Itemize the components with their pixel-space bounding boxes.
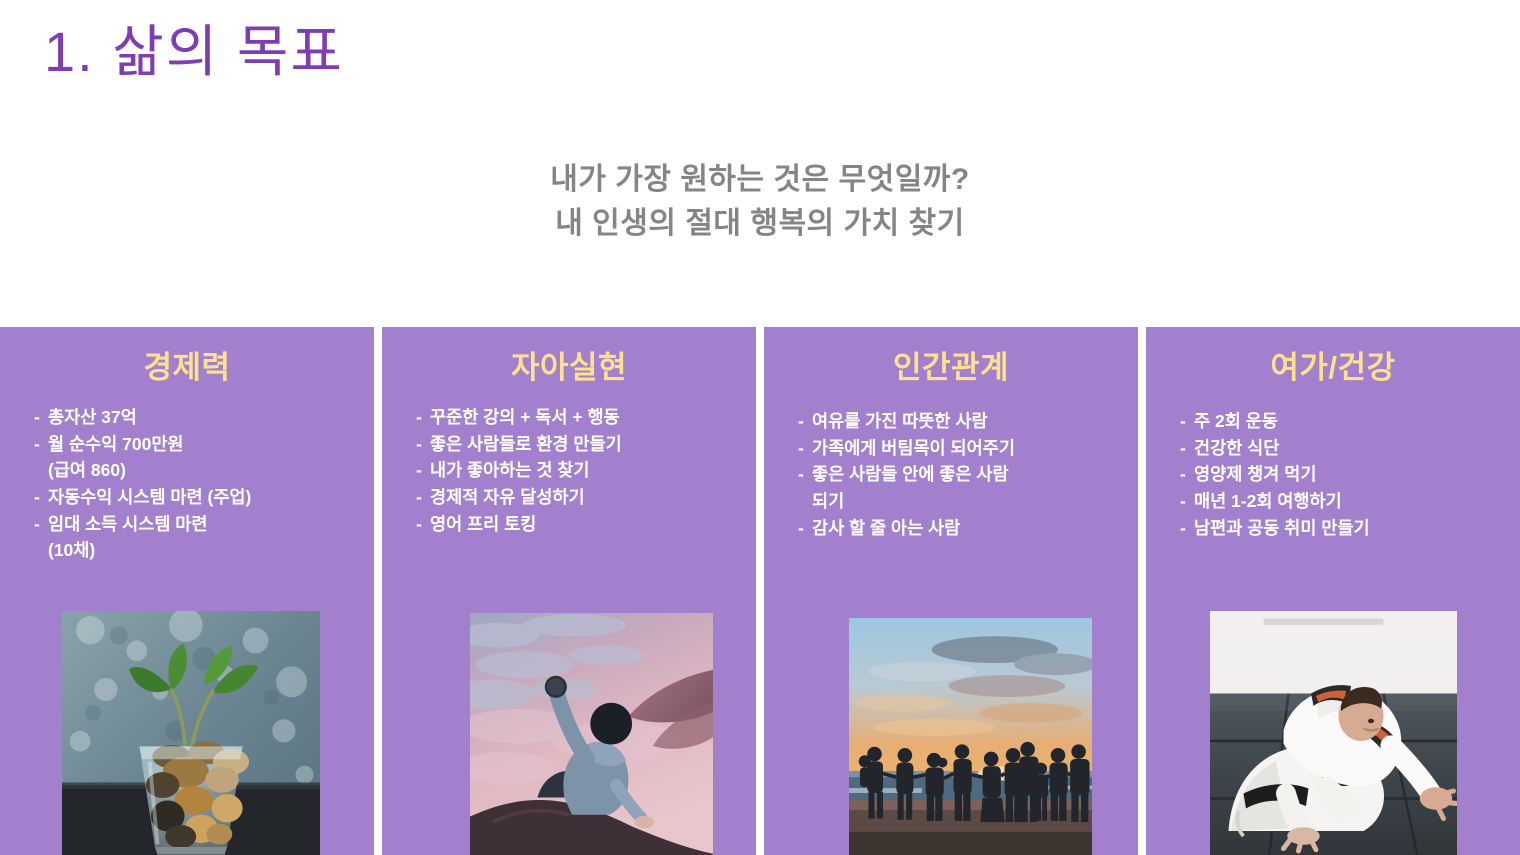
bullet-text: 월 순수익 700만원 — [48, 434, 184, 454]
bullet-text: 내가 좋아하는 것 찾기 — [430, 460, 590, 480]
bullet-dash: - — [416, 457, 422, 484]
bullet-dash: - — [1180, 488, 1186, 515]
bullet-text: 남편과 공동 취미 만들기 — [1194, 518, 1370, 538]
bullet-dash: - — [34, 404, 40, 431]
list-item: -건강한 식단 — [1180, 435, 1508, 462]
subtitle-line-1: 내가 가장 원하는 것은 무엇일까? — [0, 158, 1520, 202]
bullet-text: 임대 소득 시스템 마련 — [48, 514, 208, 534]
bullet-text: 자동수익 시스템 마련 (주업) — [48, 487, 251, 507]
bullet-dash: - — [798, 515, 804, 542]
presentation-slide: 1. 삶의 목표 내가 가장 원하는 것은 무엇일까? 내 인생의 절대 행복의… — [0, 0, 1520, 855]
bullet-dash: - — [34, 484, 40, 511]
bullet-dash: - — [34, 511, 40, 538]
bullet-text: 좋은 사람들로 환경 만들기 — [430, 434, 622, 454]
column-heading: 인간관계 — [764, 349, 1138, 386]
list-item: -총자산 37억 — [34, 404, 362, 431]
list-item: -자동수익 시스템 마련 (주업) — [34, 484, 362, 511]
coins-in-jar-with-sprout-photo — [62, 611, 320, 855]
list-item: -영어 프리 토킹 — [416, 511, 744, 538]
bullet-list: -총자산 37억 -월 순수익 700만원 (급여 860) -자동수익 시스템… — [0, 404, 374, 564]
list-item-continuation: 되기 — [798, 488, 1126, 515]
bullet-dash: - — [1180, 435, 1186, 462]
bullet-text: 영어 프리 토킹 — [430, 514, 536, 534]
list-item: -내가 좋아하는 것 찾기 — [416, 457, 744, 484]
category-column-economic: 경제력 -총자산 37억 -월 순수익 700만원 (급여 860) -자동수익… — [0, 327, 374, 855]
list-item: -월 순수익 700만원 — [34, 431, 362, 458]
bullet-dash: - — [798, 461, 804, 488]
jiu-jitsu-grappling-photo — [1210, 611, 1457, 855]
bullet-dash: - — [416, 511, 422, 538]
list-item: -감사 할 줄 아는 사람 — [798, 515, 1126, 542]
subtitle-line-2: 내 인생의 절대 행복의 가치 찾기 — [0, 202, 1520, 246]
list-item: -남편과 공동 취미 만들기 — [1180, 515, 1508, 542]
list-item-continuation: (10채) — [34, 537, 362, 564]
column-heading: 경제력 — [0, 349, 374, 386]
bullet-text: 좋은 사람들 안에 좋은 사람 — [812, 464, 1009, 484]
list-item: -좋은 사람들 안에 좋은 사람 — [798, 461, 1126, 488]
category-column-relationships: 인간관계 -여유를 가진 따뜻한 사람 -가족에게 버팀목이 되어주기 -좋은 … — [764, 327, 1138, 855]
bullet-dash: - — [1180, 461, 1186, 488]
bullet-text: 경제적 자유 달성하기 — [430, 487, 585, 507]
bullet-dash: - — [798, 408, 804, 435]
person-raising-fist-on-mountain-photo — [470, 613, 713, 855]
category-column-leisure-health: 여가/건강 -주 2회 운동 -건강한 식단 -영양제 챙겨 먹기 -매년 1-… — [1146, 327, 1520, 855]
list-item: -좋은 사람들로 환경 만들기 — [416, 431, 744, 458]
list-item-continuation: (급여 860) — [34, 457, 362, 484]
subtitle-block: 내가 가장 원하는 것은 무엇일까? 내 인생의 절대 행복의 가치 찾기 — [0, 158, 1520, 245]
category-columns: 경제력 -총자산 37억 -월 순수익 700만원 (급여 860) -자동수익… — [0, 327, 1520, 855]
list-item: -가족에게 버팀목이 되어주기 — [798, 435, 1126, 462]
bullet-text: 매년 1-2회 여행하기 — [1194, 491, 1342, 511]
bullet-list: -여유를 가진 따뜻한 사람 -가족에게 버팀목이 되어주기 -좋은 사람들 안… — [764, 408, 1138, 541]
bullet-text: 여유를 가진 따뜻한 사람 — [812, 411, 988, 431]
column-heading: 자아실현 — [382, 349, 756, 386]
bullet-text: 감사 할 줄 아는 사람 — [812, 518, 960, 538]
list-item: -주 2회 운동 — [1180, 408, 1508, 435]
bullet-dash: - — [416, 484, 422, 511]
list-item: -매년 1-2회 여행하기 — [1180, 488, 1508, 515]
page-title: 1. 삶의 목표 — [44, 18, 344, 85]
bullet-dash: - — [416, 431, 422, 458]
bullet-list: -주 2회 운동 -건강한 식단 -영양제 챙겨 먹기 -매년 1-2회 여행하… — [1146, 408, 1520, 541]
bullet-dash: - — [1180, 515, 1186, 542]
column-heading: 여가/건강 — [1146, 349, 1520, 386]
category-column-self-actualization: 자아실현 -꾸준한 강의 + 독서 + 행동 -좋은 사람들로 환경 만들기 -… — [382, 327, 756, 855]
bullet-text: (10채) — [48, 540, 95, 560]
bullet-text: 총자산 37억 — [48, 407, 137, 427]
bullet-dash: - — [1180, 408, 1186, 435]
bullet-text: 가족에게 버팀목이 되어주기 — [812, 438, 1015, 458]
bullet-text: 주 2회 운동 — [1194, 411, 1278, 431]
bullet-text: (급여 860) — [48, 460, 126, 480]
list-item: -경제적 자유 달성하기 — [416, 484, 744, 511]
bullet-text: 건강한 식단 — [1194, 438, 1279, 458]
bullet-text: 되기 — [812, 491, 844, 511]
list-item: -임대 소득 시스템 마련 — [34, 511, 362, 538]
list-item: -꾸준한 강의 + 독서 + 행동 — [416, 404, 744, 431]
list-item: -여유를 가진 따뜻한 사람 — [798, 408, 1126, 435]
bullet-dash: - — [798, 435, 804, 462]
family-holding-hands-beach-sunset-photo — [849, 618, 1092, 855]
bullet-dash: - — [34, 431, 40, 458]
bullet-dash: - — [416, 404, 422, 431]
list-item: -영양제 챙겨 먹기 — [1180, 461, 1508, 488]
bullet-text: 영양제 챙겨 먹기 — [1194, 464, 1316, 484]
bullet-text: 꾸준한 강의 + 독서 + 행동 — [430, 407, 620, 427]
bullet-list: -꾸준한 강의 + 독서 + 행동 -좋은 사람들로 환경 만들기 -내가 좋아… — [382, 404, 756, 537]
